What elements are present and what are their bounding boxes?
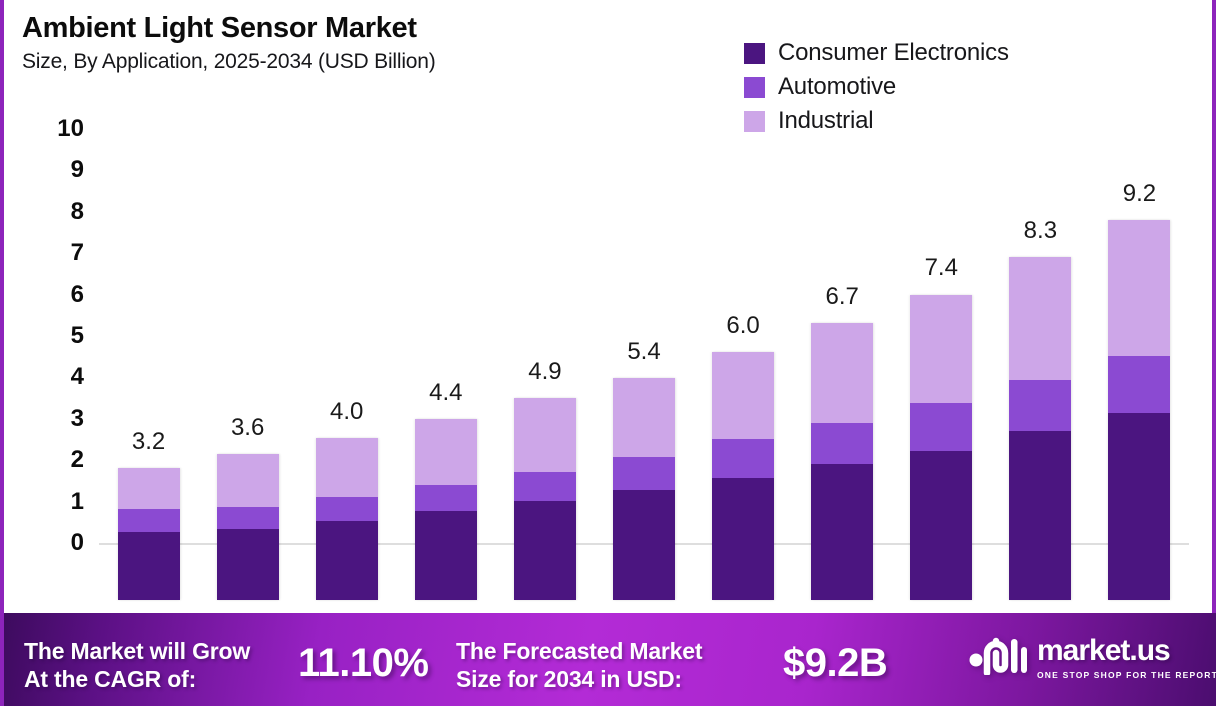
y-axis-tick-label: 3: [24, 405, 84, 433]
bar-segment[interactable]: [118, 509, 180, 532]
bar-segment[interactable]: [415, 485, 477, 511]
bar-segment[interactable]: [712, 478, 774, 600]
y-axis-tick-label: 9: [24, 156, 84, 184]
bar-group[interactable]: 4.42027: [415, 167, 477, 657]
y-axis-tick-label: 10: [24, 115, 84, 143]
stacked-bar[interactable]: [316, 438, 378, 600]
cagr-label-line1: The Market will Grow: [24, 637, 250, 665]
bar-segment[interactable]: [217, 507, 279, 529]
stacked-bar[interactable]: [910, 295, 972, 601]
bar-group[interactable]: 5.42029: [613, 167, 675, 657]
bar-segment[interactable]: [1009, 257, 1071, 380]
forecast-label-line1: The Forecasted Market: [456, 637, 702, 665]
bar-segment[interactable]: [415, 511, 477, 600]
bar-segment[interactable]: [1108, 356, 1170, 413]
bar-group[interactable]: 3.22024: [118, 167, 180, 657]
legend-item[interactable]: Consumer Electronics: [744, 36, 1009, 70]
logo-tagline: ONE STOP SHOP FOR THE REPORTS: [1037, 670, 1216, 680]
legend-item-label: Consumer Electronics: [778, 39, 1009, 67]
chart-infographic: Ambient Light Sensor Market Size, By App…: [0, 0, 1216, 706]
bar-series-container: 3.220243.620254.020264.420274.920285.420…: [99, 110, 1189, 600]
bar-value-label: 5.4: [627, 338, 660, 366]
stacked-bar[interactable]: [712, 352, 774, 600]
legend-swatch-icon: [744, 77, 765, 98]
y-axis-tick-label: 8: [24, 198, 84, 226]
page-title: Ambient Light Sensor Market: [22, 12, 436, 45]
stacked-bar[interactable]: [1108, 220, 1170, 600]
bar-segment[interactable]: [1009, 431, 1071, 600]
bar-group[interactable]: 3.62025: [217, 167, 279, 657]
y-axis-tick-label: 0: [24, 529, 84, 557]
bar-segment[interactable]: [118, 532, 180, 600]
bar-segment[interactable]: [613, 378, 675, 457]
y-axis-tick-label: 1: [24, 488, 84, 516]
bar-segment[interactable]: [1009, 380, 1071, 431]
cagr-value: 11.10%: [298, 641, 428, 686]
bar-segment[interactable]: [712, 439, 774, 478]
bar-segment[interactable]: [514, 501, 576, 600]
bar-segment[interactable]: [613, 490, 675, 600]
bar-segment[interactable]: [316, 497, 378, 521]
forecast-label-line2: Size for 2034 in USD:: [456, 665, 702, 693]
bar-value-label: 8.3: [1024, 217, 1057, 245]
bar-group[interactable]: 8.32033: [1009, 167, 1071, 657]
bar-value-label: 3.2: [132, 428, 165, 456]
market-us-logo-icon: [969, 635, 1027, 680]
logo-name: market.us: [1037, 636, 1216, 666]
y-axis-tick-label: 2: [24, 446, 84, 474]
legend-item[interactable]: Automotive: [744, 70, 1009, 104]
y-axis-tick-label: 4: [24, 363, 84, 391]
bar-segment[interactable]: [514, 472, 576, 501]
bar-group[interactable]: 9.22034: [1108, 167, 1170, 657]
y-axis: 012345678910: [24, 110, 84, 600]
y-axis-tick-label: 5: [24, 322, 84, 350]
bar-value-label: 9.2: [1123, 180, 1156, 208]
header: Ambient Light Sensor Market Size, By App…: [22, 12, 436, 74]
bar-segment[interactable]: [613, 457, 675, 490]
bar-segment[interactable]: [910, 295, 972, 403]
cagr-label-line2: At the CAGR of:: [24, 665, 250, 693]
bar-value-label: 7.4: [925, 254, 958, 282]
stacked-bar[interactable]: [811, 323, 873, 600]
bar-group[interactable]: 7.42032: [910, 167, 972, 657]
bar-group[interactable]: 4.02026: [316, 167, 378, 657]
forecast-label: The Forecasted Market Size for 2034 in U…: [456, 637, 702, 693]
brand-logo[interactable]: market.us ONE STOP SHOP FOR THE REPORTS: [969, 635, 1216, 680]
cagr-label: The Market will Grow At the CAGR of:: [24, 637, 250, 693]
bar-segment[interactable]: [811, 464, 873, 600]
legend-item-label: Automotive: [778, 73, 896, 101]
bar-segment[interactable]: [1108, 413, 1170, 600]
stacked-bar[interactable]: [118, 468, 180, 600]
stacked-bar[interactable]: [514, 398, 576, 600]
bar-segment[interactable]: [712, 352, 774, 439]
bar-value-label: 6.0: [726, 312, 759, 340]
stacked-bar[interactable]: [415, 419, 477, 600]
bar-segment[interactable]: [910, 403, 972, 451]
plot-area: 012345678910 3.220243.620254.020264.4202…: [4, 110, 1216, 600]
bar-segment[interactable]: [1108, 220, 1170, 355]
bar-segment[interactable]: [118, 468, 180, 509]
bar-segment[interactable]: [811, 423, 873, 464]
bar-group[interactable]: 6.02030: [712, 167, 774, 657]
bar-segment[interactable]: [217, 454, 279, 507]
forecast-value: $9.2B: [783, 641, 887, 686]
stacked-bar[interactable]: [613, 378, 675, 600]
bar-value-label: 4.4: [429, 379, 462, 407]
bar-group[interactable]: 4.92028: [514, 167, 576, 657]
bar-segment[interactable]: [316, 521, 378, 600]
bar-segment[interactable]: [811, 323, 873, 423]
bar-segment[interactable]: [415, 419, 477, 485]
bar-group[interactable]: 6.72031: [811, 167, 873, 657]
bar-segment[interactable]: [316, 438, 378, 497]
y-axis-tick-label: 6: [24, 281, 84, 309]
bar-value-label: 4.0: [330, 398, 363, 426]
bar-segment[interactable]: [910, 451, 972, 600]
legend-swatch-icon: [744, 43, 765, 64]
bar-value-label: 3.6: [231, 414, 264, 442]
bar-segment[interactable]: [217, 529, 279, 600]
y-axis-tick-label: 7: [24, 239, 84, 267]
stacked-bar[interactable]: [1009, 257, 1071, 600]
bar-value-label: 4.9: [528, 358, 561, 386]
bar-segment[interactable]: [514, 398, 576, 472]
stacked-bar[interactable]: [217, 454, 279, 600]
footer-banner: The Market will Grow At the CAGR of: 11.…: [4, 613, 1216, 706]
bar-value-label: 6.7: [825, 283, 858, 311]
page-subtitle: Size, By Application, 2025-2034 (USD Bil…: [22, 50, 436, 74]
